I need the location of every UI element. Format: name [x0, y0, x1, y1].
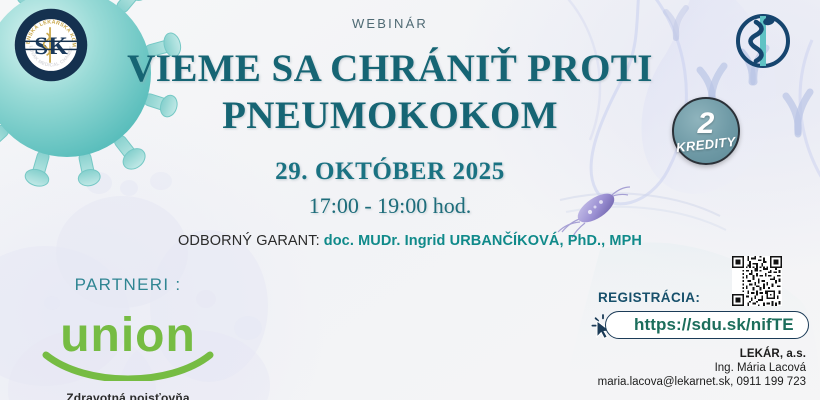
credits-number: 2 — [698, 111, 715, 137]
credits-label: KREDITY — [675, 133, 736, 154]
guarantor-line: ODBORNÝ GARANT: doc. MUDr. Ingrid URBANČ… — [0, 233, 820, 249]
svg-text:SK: SK — [34, 33, 68, 60]
slovak-medical-chamber-logo: SLOVENSKÁ LEKÁRSKA KOMORA SLOVAK MEDICAL… — [14, 8, 88, 82]
partners-block: PARTNERI : union Zdravotná poisťovňa — [28, 275, 228, 400]
bacterium-illustration — [556, 182, 632, 238]
cell-shape — [234, 316, 262, 340]
credits-badge: 2 KREDITY — [672, 97, 740, 165]
registration-url-text: https://sdu.sk/nifTE — [634, 315, 794, 335]
union-logo: union — [28, 305, 228, 381]
webinar-banner: SLOVENSKÁ LEKÁRSKA KOMORA SLOVAK MEDICAL… — [0, 0, 820, 400]
guarantor-name: doc. MUDr. Ingrid URBANČÍKOVÁ, PhD., MPH — [324, 233, 642, 249]
union-subtitle: Zdravotná poisťovňa — [28, 391, 228, 400]
title-line-2: PNEUMOKOKOM — [110, 92, 670, 139]
title-line-1: VIEME SA CHRÁNIŤ PROTI — [110, 45, 670, 92]
qr-code[interactable] — [729, 256, 785, 306]
webinar-label: WEBINÁR — [110, 16, 670, 31]
headline-block: WEBINÁR VIEME SA CHRÁNIŤ PROTI PNEUMOKOK… — [110, 16, 670, 139]
asclepius-rod-emblem — [732, 10, 794, 72]
registration-url-button[interactable]: https://sdu.sk/nifTE — [605, 311, 809, 339]
partners-label: PARTNERI : — [28, 275, 228, 295]
svg-text:union: union — [60, 309, 196, 362]
contact-block: LEKÁR, a.s. Ing. Mária Lacová maria.laco… — [516, 347, 806, 389]
page-title: VIEME SA CHRÁNIŤ PROTI PNEUMOKOKOM — [110, 45, 670, 139]
contact-email-phone: maria.lacova@lekarnet.sk, 0911 199 723 — [516, 375, 806, 389]
contact-person: Ing. Mária Lacová — [516, 361, 806, 375]
registration-label: REGISTRÁCIA: — [598, 290, 700, 305]
guarantor-label: ODBORNÝ GARANT: — [178, 233, 320, 249]
contact-organization: LEKÁR, a.s. — [516, 347, 806, 361]
